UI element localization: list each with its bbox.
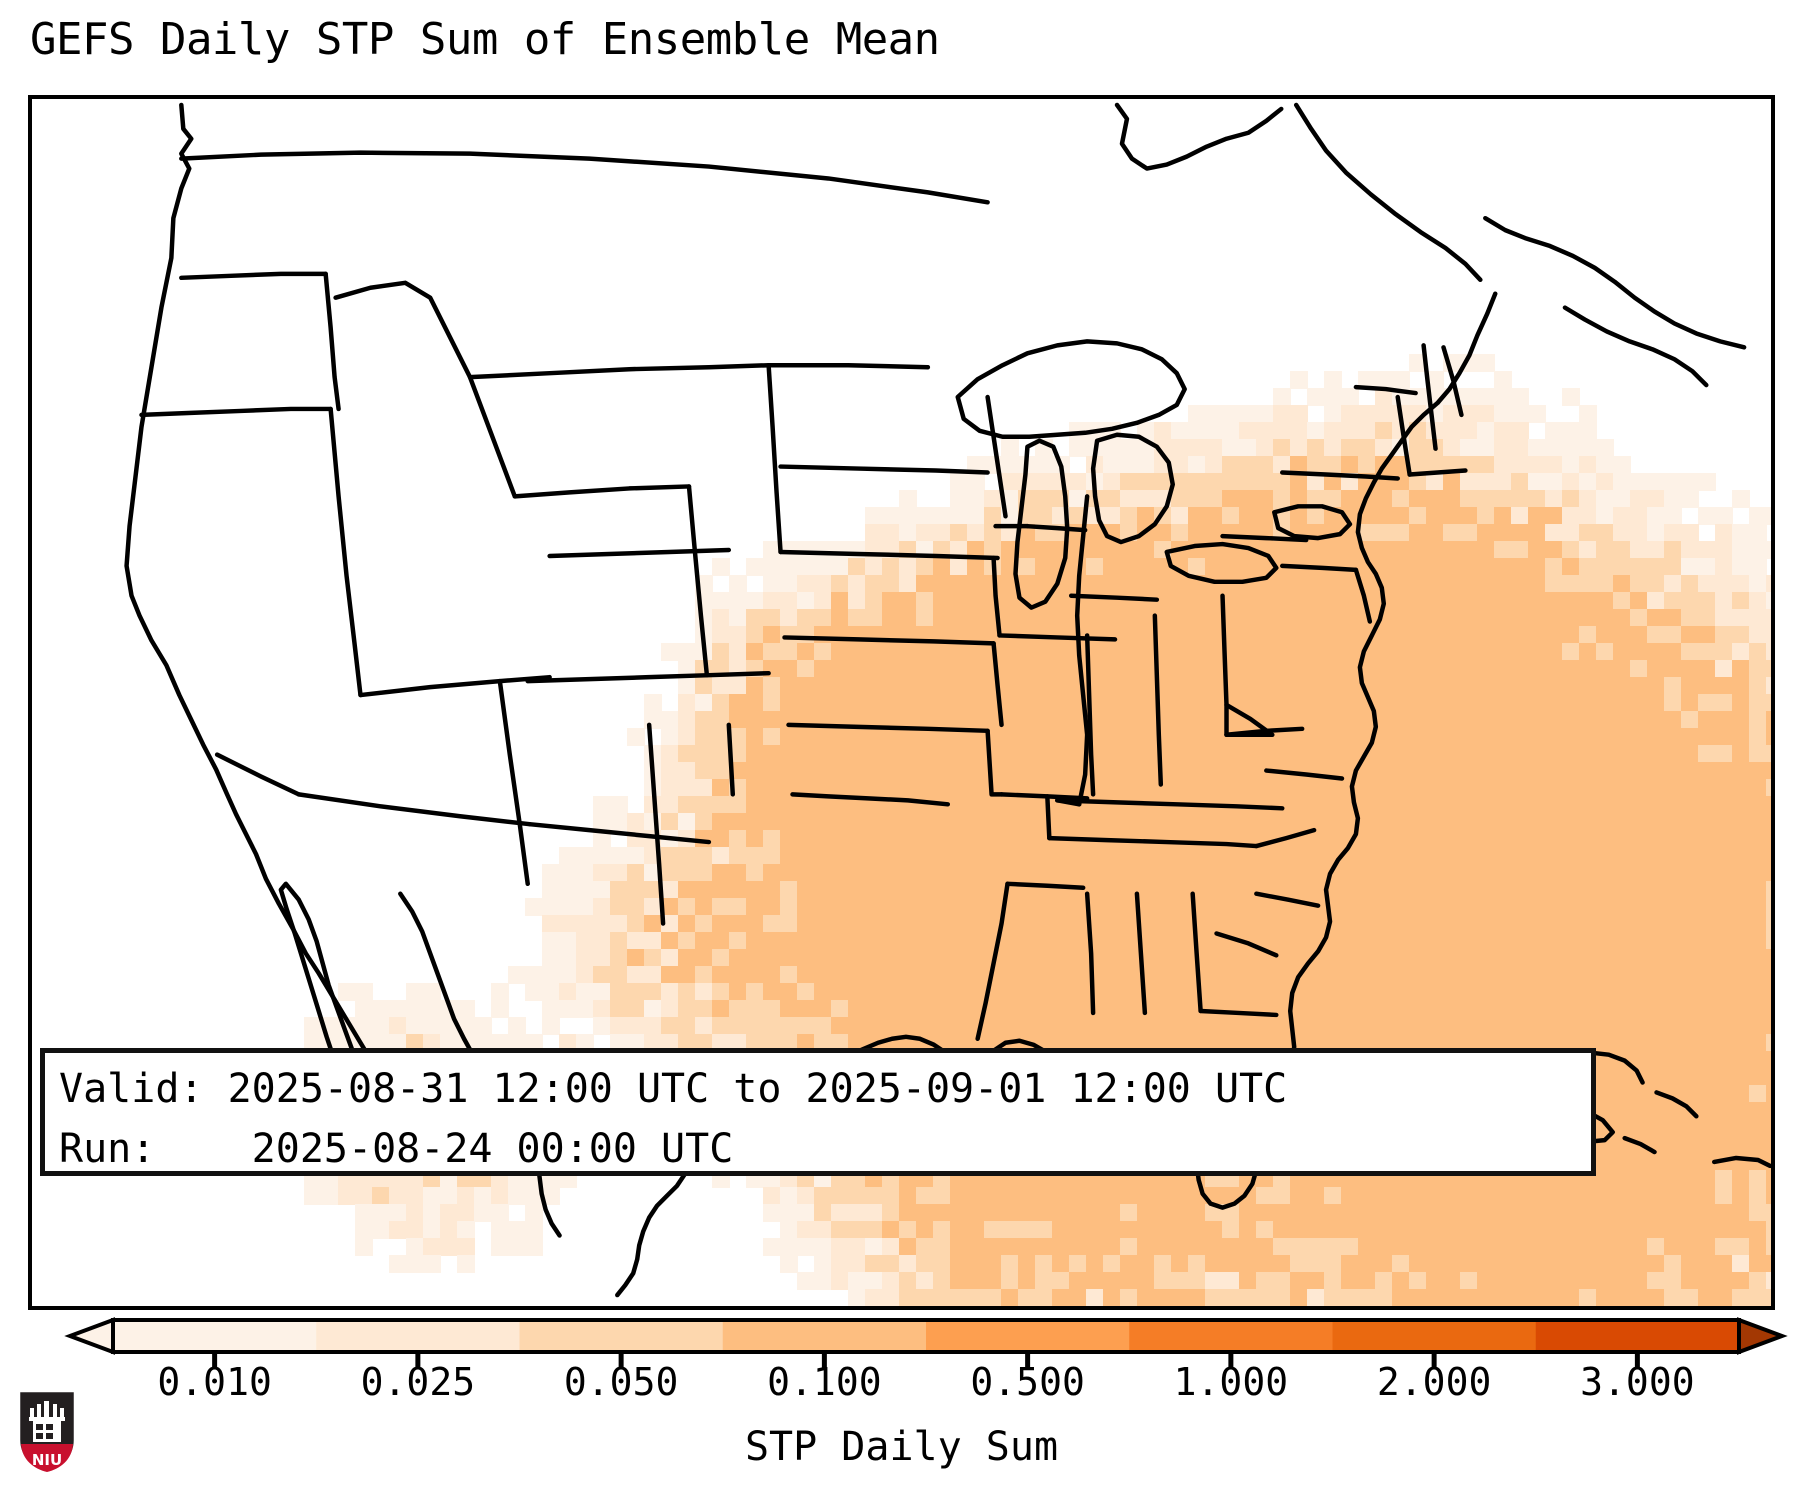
heatmap-cell (950, 1306, 968, 1310)
state-ca-nv-az (331, 409, 361, 695)
heatmap-cell (1205, 1306, 1223, 1310)
colorbar-axis-label: STP Daily Sum (0, 1424, 1803, 1470)
state-az-nm (500, 681, 528, 884)
heatmap-cell (1154, 1306, 1172, 1310)
state-or-id (326, 274, 339, 409)
heatmap-cell (1256, 1306, 1274, 1310)
nova-scotia (1565, 308, 1706, 385)
heatmap-cell (1035, 1306, 1053, 1310)
state-wy-ne-sd (769, 365, 781, 552)
heatmap-cell (1562, 1306, 1580, 1310)
bahamas-1 (1591, 1053, 1643, 1083)
colorbar-over-arrow (1739, 1320, 1782, 1352)
state-nd-sd (781, 467, 988, 473)
heatmap-cell (1681, 1306, 1699, 1310)
lake-erie (1167, 544, 1276, 582)
niu-shield-logo: NIU (16, 1388, 78, 1476)
state-ga-fl (1201, 1011, 1277, 1015)
heatmap-cell (1222, 1306, 1240, 1310)
heatmap-cell (1069, 1306, 1087, 1310)
lake-huron (1093, 435, 1173, 542)
heatmap-cell (1358, 1306, 1376, 1310)
heatmap-cell (1290, 1306, 1308, 1310)
state-tn-nc (1256, 830, 1314, 846)
pacific-coastline (127, 105, 431, 1172)
heatmap-cell (1341, 1306, 1359, 1310)
heatmap-cell (1137, 1306, 1155, 1310)
valid-time-line: Valid: 2025-08-31 12:00 UTC to 2025-09-0… (59, 1059, 1591, 1119)
state-sd-ne (781, 552, 998, 558)
heatmap-cell (1188, 1306, 1206, 1310)
heatmap-cell (1120, 1306, 1138, 1310)
colorbar-tick-label: 0.500 (970, 1360, 1084, 1404)
heatmap-cell (1409, 1306, 1427, 1310)
hispaniola (1714, 1158, 1770, 1166)
state-ar-tn (1047, 796, 1049, 838)
colorbar-band (113, 1320, 317, 1352)
heatmap-cell (1426, 1306, 1444, 1310)
state-tx-ok-panhandle (729, 725, 733, 795)
heatmap-cell (1477, 1306, 1495, 1310)
state-il-in (1087, 635, 1093, 794)
heatmap-cell (1698, 1306, 1716, 1310)
colorbar-band (926, 1320, 1130, 1352)
state-nv-ut (360, 677, 549, 695)
state-la-tx (978, 884, 1008, 1039)
state-ut-co (689, 486, 707, 675)
state-pa-md (1282, 566, 1356, 570)
colorbar-tick-label: 3.000 (1580, 1360, 1694, 1404)
heatmap-cell (1715, 1306, 1733, 1310)
heatmap-cell (1494, 1306, 1512, 1310)
state-co-nm (528, 673, 769, 681)
state-mt-nd (769, 365, 928, 367)
state-ne-ks (785, 637, 994, 643)
heatmap-cell (1545, 1306, 1563, 1310)
colorbar-under-arrow (70, 1320, 113, 1352)
state-ca-az-south (217, 755, 299, 795)
state-nc-va (1266, 771, 1342, 779)
heatmap-cell (1103, 1306, 1121, 1310)
colorbar-band (316, 1320, 520, 1352)
run-time-line: Run: 2025-08-24 00:00 UTC (59, 1119, 1591, 1179)
heatmap-cell (1052, 1306, 1070, 1310)
heatmap-cell (916, 1306, 934, 1310)
state-wi-il (1027, 526, 1085, 530)
heatmap-cell (865, 1306, 883, 1310)
state-mi-oh-in (1071, 596, 1157, 600)
state-ks-ok (789, 725, 988, 731)
colorbar-band (520, 1320, 724, 1352)
colorbar[interactable]: 0.0100.0250.0500.1000.5001.0002.0003.000 (0, 1316, 1803, 1380)
state-ky-tn (1057, 800, 1282, 808)
state-ms-al (1137, 894, 1145, 1013)
state-in-oh (1155, 616, 1161, 785)
heatmap-cell (967, 1306, 985, 1310)
info-box: Valid: 2025-08-31 12:00 UTC to 2025-09-0… (40, 1048, 1596, 1176)
maritimes (1485, 218, 1744, 347)
canada-ne-coast (1117, 105, 1281, 169)
state-id-mt (336, 283, 515, 497)
state-ia-mo (1000, 635, 1115, 639)
heatmap-cell (1307, 1306, 1325, 1310)
state-nj-de (1356, 570, 1370, 622)
heatmap-cell (848, 1306, 866, 1310)
state-wa-or (181, 274, 325, 278)
heatmap-cell (882, 1306, 900, 1310)
state-nh-me (1444, 347, 1462, 415)
state-vt-nh (1424, 345, 1436, 448)
colorbar-tick-label: 0.100 (767, 1360, 881, 1404)
state-az-south (299, 794, 530, 824)
heatmap-cell (1528, 1306, 1546, 1310)
colorbar-tick-label: 2.000 (1377, 1360, 1491, 1404)
niu-logo-text: NIU (32, 1451, 62, 1469)
state-ok-tx (793, 794, 948, 804)
heatmap-cell (1630, 1306, 1648, 1310)
canada-border (181, 153, 987, 203)
heatmap-cell (1443, 1306, 1461, 1310)
heatmap-cell (1086, 1306, 1104, 1310)
state-mo-ar (1002, 794, 1088, 798)
bahamas-3 (1625, 1138, 1655, 1152)
state-mt-wy (470, 365, 769, 377)
colorbar-band (723, 1320, 927, 1352)
state-id-wy-ut (515, 486, 689, 496)
colorbar-band (1333, 1320, 1537, 1352)
heatmap-cell (1579, 1306, 1597, 1310)
state-nc-sc (1256, 894, 1318, 906)
state-nm-tx (649, 725, 663, 924)
state-al-ga (1193, 894, 1201, 1011)
colorbar-tick-label: 1.000 (1174, 1360, 1288, 1404)
state-or-ca (141, 409, 330, 415)
heatmap-cell (831, 1306, 849, 1310)
state-ok-ar (988, 731, 1002, 795)
heatmap-cell (1749, 1306, 1767, 1310)
state-ma-ct (1410, 471, 1466, 475)
state-ne-ia (994, 558, 1000, 635)
colorbar-tick-label: 0.050 (564, 1360, 678, 1404)
heatmap-cell (1273, 1306, 1291, 1310)
heatmap-cell (1171, 1306, 1189, 1310)
page-title: GEFS Daily STP Sum of Ensemble Mean (30, 14, 940, 65)
heatmap-cell (1766, 1306, 1775, 1310)
colorbar-band (1536, 1320, 1740, 1352)
heatmap-cell (1018, 1306, 1036, 1310)
state-nm-south (530, 824, 709, 842)
state-sc-ga (1217, 933, 1277, 955)
heatmap-cell (899, 1306, 917, 1310)
state-wi-mn (988, 397, 1006, 516)
state-ny-north (1356, 387, 1416, 393)
heatmap-cell (1732, 1306, 1750, 1310)
colorbar-band (1129, 1320, 1333, 1352)
heatmap-cell (933, 1306, 951, 1310)
heatmap-cell (814, 1306, 832, 1310)
heatmap-cell (1324, 1306, 1342, 1310)
heatmap-cell (1613, 1306, 1631, 1310)
state-la-ms (1087, 894, 1093, 1013)
state-wy-co (550, 550, 729, 556)
colorbar-tick-label: 0.025 (361, 1360, 475, 1404)
state-ks-mo (994, 643, 1002, 724)
heatmap-cell (984, 1306, 1002, 1310)
state-ar-la (1008, 884, 1084, 888)
heatmap-cell (1511, 1306, 1529, 1310)
heatmap-cell (1460, 1306, 1478, 1310)
colorbar-tick-label: 0.010 (157, 1360, 271, 1404)
heatmap-cell (1001, 1306, 1019, 1310)
state-oh-pa-wv (1223, 596, 1227, 735)
bahamas-2 (1657, 1092, 1697, 1116)
state-tn-ms-al-ga (1049, 838, 1256, 846)
heatmap-cell (1647, 1306, 1665, 1310)
heatmap-cell (1392, 1306, 1410, 1310)
lake-ontario (1274, 506, 1350, 538)
st-lawrence (1296, 105, 1480, 280)
heatmap-cell (1596, 1306, 1614, 1310)
heatmap-cell (1375, 1306, 1393, 1310)
heatmap-cell (1239, 1306, 1257, 1310)
heatmap-cell (1664, 1306, 1682, 1310)
